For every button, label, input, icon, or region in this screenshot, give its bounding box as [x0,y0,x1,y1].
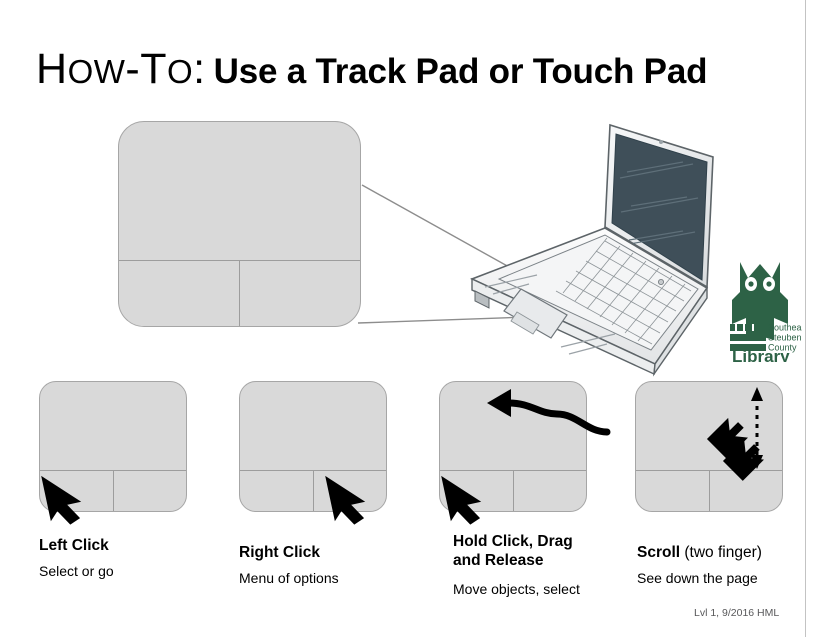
panel-title: Scroll (two finger) [637,544,762,563]
panel-subtitle: Move objects, select [453,581,580,597]
track-pad-left-click [39,381,187,512]
track-pad-drag [439,381,587,512]
webcam-icon [659,140,663,144]
panel-subtitle: Menu of options [239,570,339,586]
panel-title: Hold Click, Dragand Release [453,533,573,571]
track-pad-scroll [635,381,783,512]
divider-vertical [313,471,314,511]
logo-line-1: Southeast [768,323,802,333]
library-logo: Southeast Steuben County Library [722,258,802,362]
panel-subtitle: Select or go [39,563,114,579]
panel-subtitle: See down the page [637,570,758,586]
poster-page: HOW-TO:Use a Track Pad or Touch Pad [0,0,825,637]
panel-title: Left Click [39,537,109,556]
footer-note: Lvl 1, 9/2016 HML [694,607,779,619]
track-pad-right-click [239,381,387,512]
logo-line-4: Library [732,347,790,362]
power-indicator-icon [658,279,663,284]
logo-line-2: Steuben [768,333,802,343]
laptop-illustration [455,112,720,377]
divider-vertical [113,471,114,511]
divider-vertical [513,471,514,511]
panel-title: Right Click [239,544,320,563]
divider-vertical [709,471,710,511]
